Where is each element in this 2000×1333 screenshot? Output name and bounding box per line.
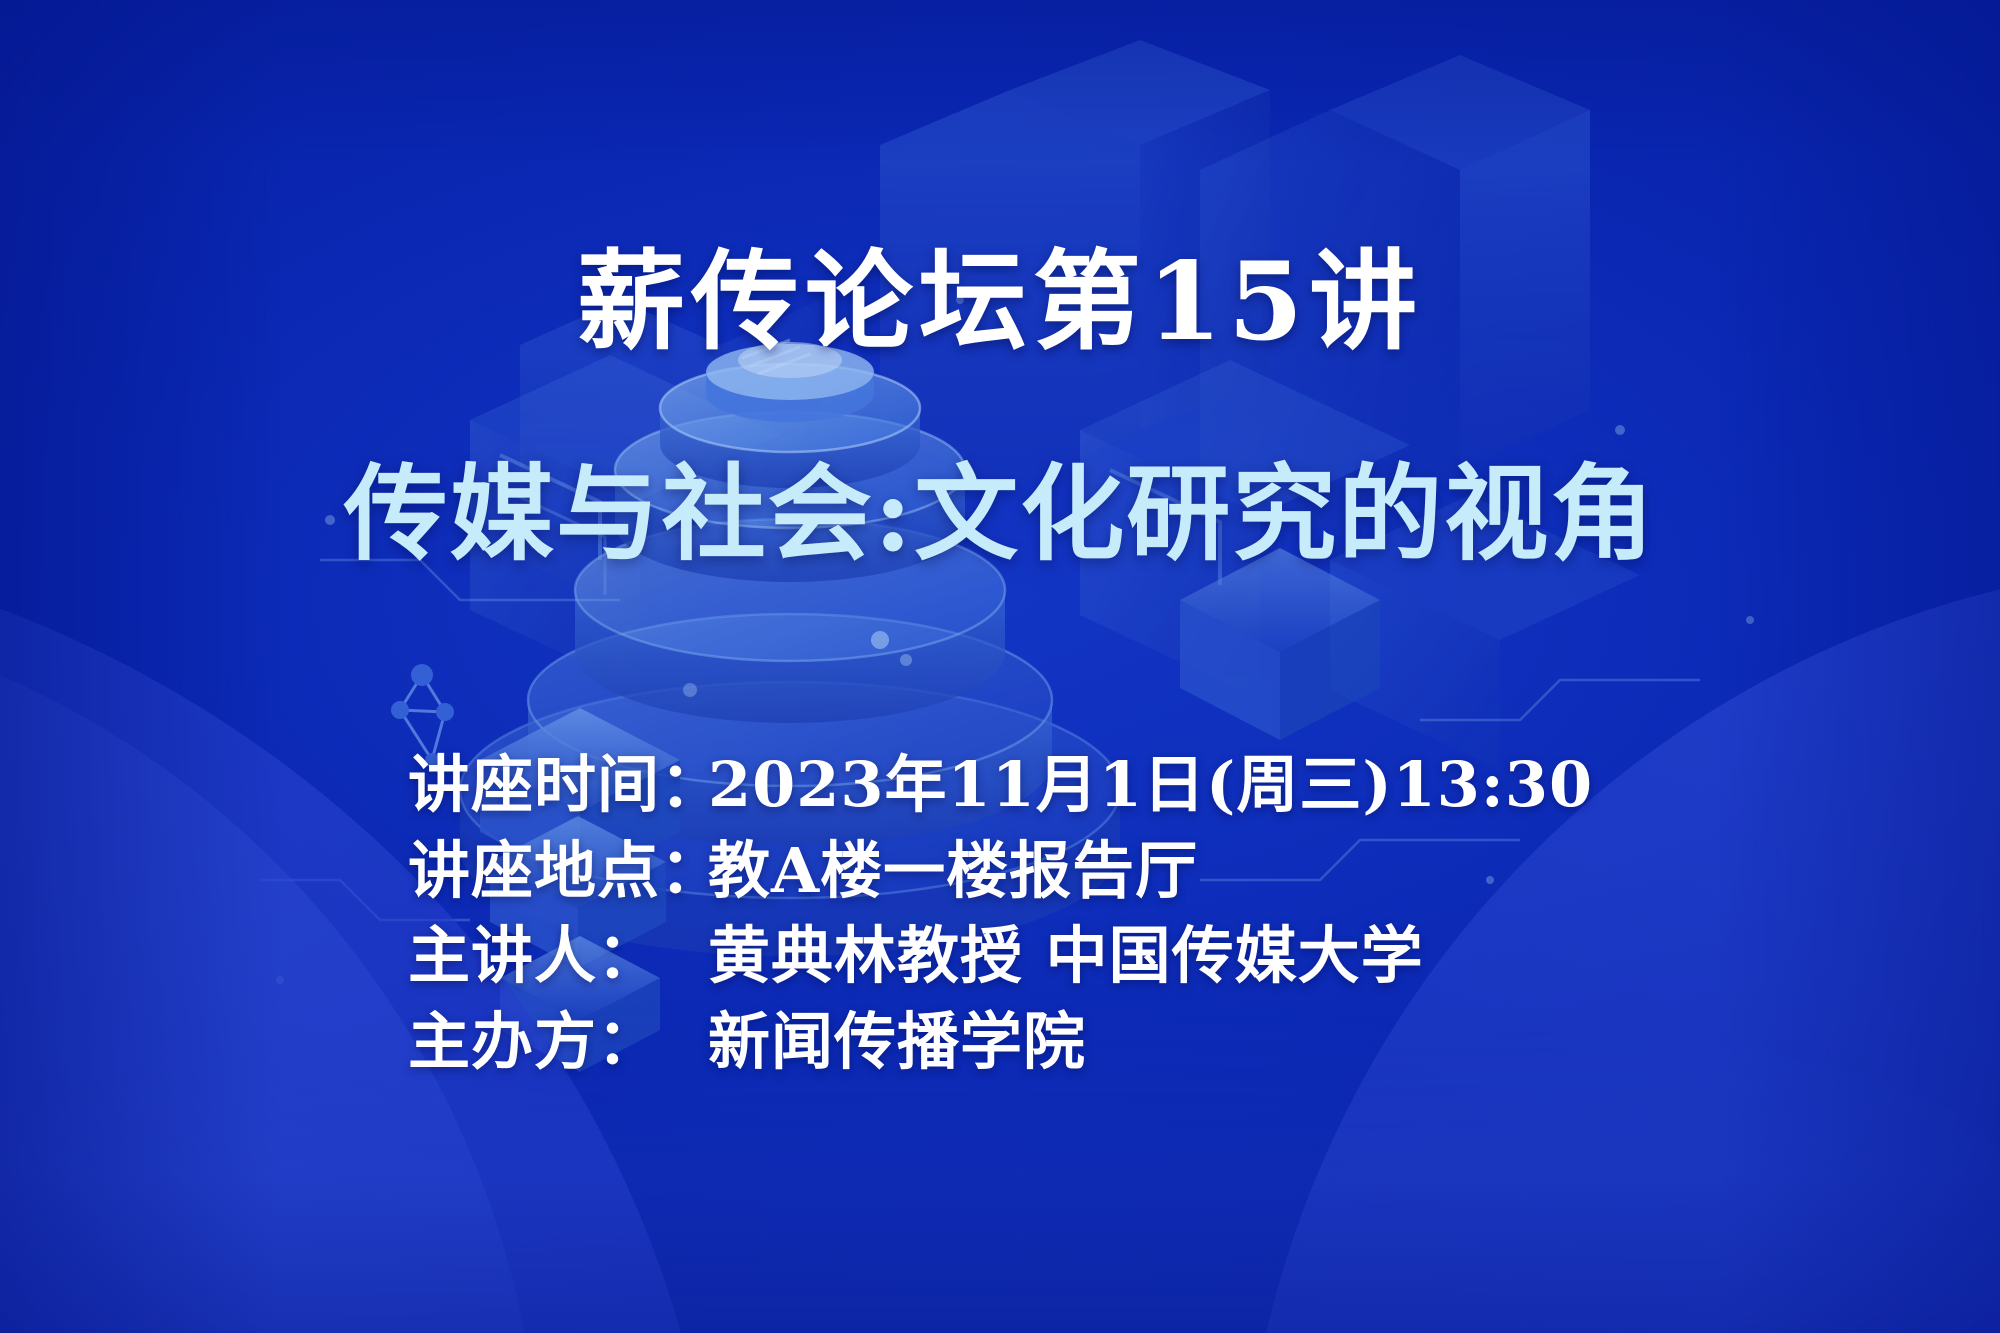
poster-title-main: 薪传论坛第15讲: [0, 248, 2000, 356]
detail-row-location: 讲座地点： 教A楼一楼报告厅: [408, 828, 1593, 914]
detail-label-time: 讲座时间：: [408, 742, 708, 828]
detail-row-organizer: 主办方： 新闻传播学院: [408, 999, 1593, 1085]
lecture-poster: 薪传论坛第15讲 传媒与社会:文化研究的视角 讲座时间： 2023年11月1日(…: [0, 0, 2000, 1333]
detail-value-location: 教A楼一楼报告厅: [708, 828, 1198, 914]
poster-detail-list: 讲座时间： 2023年11月1日(周三)13:30 讲座地点： 教A楼一楼报告厅…: [408, 742, 1593, 1084]
detail-label-speaker: 主讲人：: [408, 913, 708, 999]
detail-label-organizer: 主办方：: [408, 999, 708, 1085]
detail-label-location: 讲座地点：: [408, 828, 708, 914]
detail-value-time: 2023年11月1日(周三)13:30: [708, 742, 1593, 828]
detail-row-time: 讲座时间： 2023年11月1日(周三)13:30: [408, 742, 1593, 828]
poster-title-subtitle: 传媒与社会:文化研究的视角: [0, 462, 2000, 566]
detail-value-speaker: 黄典林教授 中国传媒大学: [708, 913, 1424, 999]
detail-row-speaker: 主讲人： 黄典林教授 中国传媒大学: [408, 913, 1593, 999]
poster-content: 薪传论坛第15讲 传媒与社会:文化研究的视角 讲座时间： 2023年11月1日(…: [0, 0, 2000, 1333]
detail-value-organizer: 新闻传播学院: [708, 999, 1086, 1085]
